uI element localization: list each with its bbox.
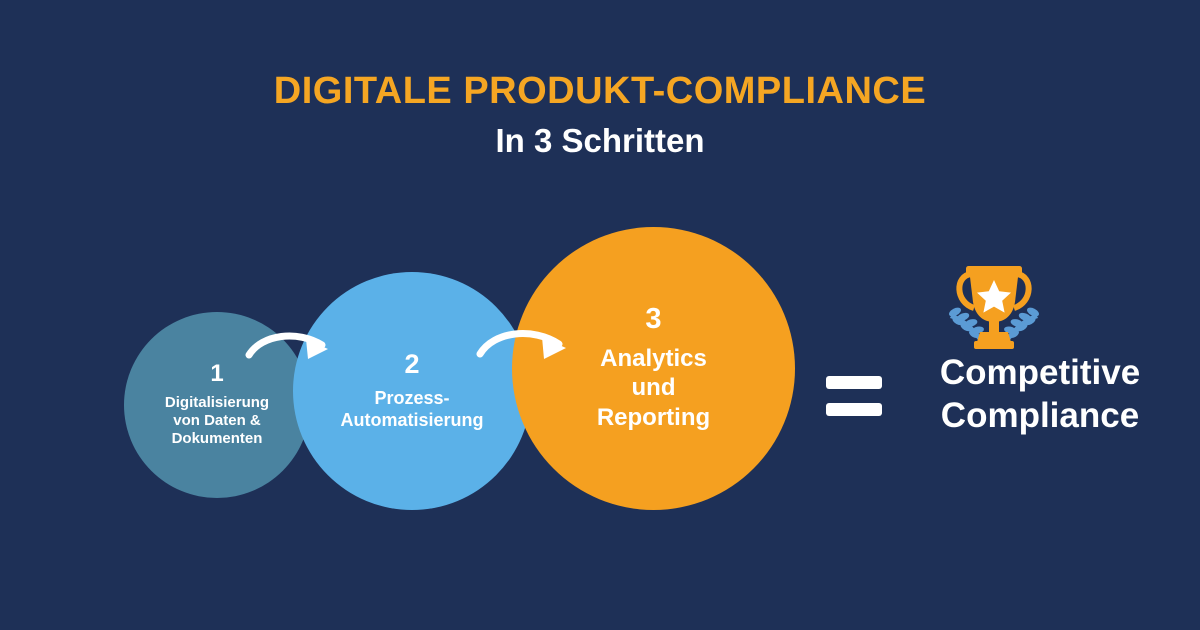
- step-2-label-line1: Prozess-: [340, 388, 483, 410]
- result-line-2: Compliance: [890, 395, 1190, 438]
- infographic-canvas: DIGITALE PRODUKT-COMPLIANCE In 3 Schritt…: [0, 0, 1200, 630]
- step-2-number: 2: [404, 351, 419, 378]
- step-3-number: 3: [645, 305, 661, 334]
- result-line-1: Competitive: [890, 352, 1190, 395]
- equals-sign: [826, 376, 882, 416]
- arrow-step1-to-step2-icon: [246, 328, 338, 372]
- step-circle-2: 2 Prozess- Automatisierung: [293, 272, 531, 510]
- trophy-foot-icon: [974, 341, 1014, 349]
- step-1-label-line1: Digitalisierung: [165, 394, 269, 412]
- equals-bar-bottom: [826, 403, 882, 416]
- step-2-label: Prozess- Automatisierung: [340, 388, 483, 432]
- page-subtitle: In 3 Schritten: [0, 124, 1200, 159]
- step-3-label-line2: und: [597, 373, 710, 402]
- step-3-label-line1: Analytics: [597, 344, 710, 373]
- step-1-label-line3: Dokumenten: [165, 430, 269, 448]
- step-1-number: 1: [210, 362, 223, 386]
- trophy-rim-icon: [966, 266, 1022, 277]
- step-1-label: Digitalisierung von Daten & Dokumenten: [165, 394, 269, 449]
- trophy-stem-icon: [989, 320, 999, 332]
- trophy-icon: [938, 258, 1050, 350]
- step-1-label-line2: von Daten &: [165, 412, 269, 430]
- result-text: Competitive Compliance: [890, 352, 1190, 437]
- arrow-step2-to-step3-icon: [477, 325, 577, 373]
- step-2-label-line2: Automatisierung: [340, 410, 483, 432]
- page-title: DIGITALE PRODUKT-COMPLIANCE: [0, 72, 1200, 112]
- trophy-base-icon: [977, 332, 1011, 342]
- trophy-icon-svg: [938, 258, 1050, 350]
- header: DIGITALE PRODUKT-COMPLIANCE In 3 Schritt…: [0, 72, 1200, 159]
- step-3-label-line3: Reporting: [597, 403, 710, 432]
- step-3-label: Analytics und Reporting: [597, 344, 710, 432]
- equals-bar-top: [826, 376, 882, 389]
